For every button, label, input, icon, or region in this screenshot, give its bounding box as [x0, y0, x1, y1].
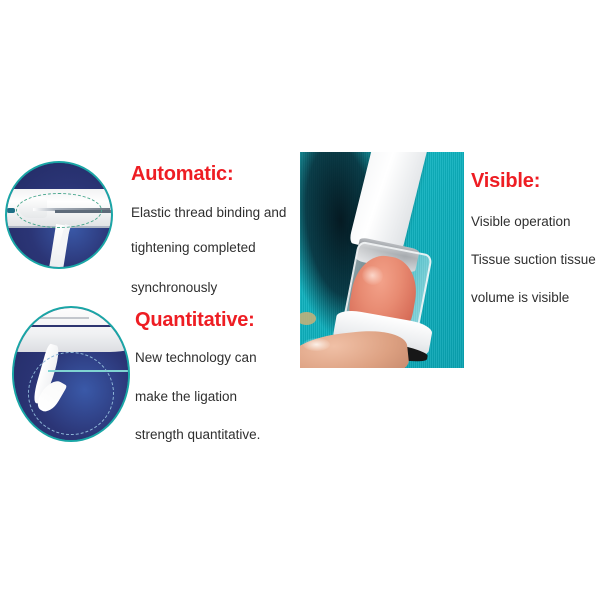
feature-text-automatic-line-2: tightening completed — [131, 240, 256, 255]
feature-text-visible-line-1: Visible operation — [471, 214, 571, 229]
feature-heading-visible: Visible: — [471, 170, 540, 193]
ligation-strength-illustration — [12, 306, 130, 442]
feature-text-automatic-line-3: synchronously — [131, 280, 217, 295]
clinical-tissue-suction-photo — [300, 152, 464, 368]
device-upper-body-line-secondary — [21, 317, 89, 319]
product-feature-infographic: Automatic: Elastic thread binding and ti… — [0, 0, 600, 600]
feature-text-automatic-line-1: Elastic thread binding and — [131, 205, 286, 220]
dashed-circle-highlight — [28, 352, 114, 436]
dashed-ellipse-highlight — [16, 193, 101, 228]
feature-text-quantitative-line-3: strength quantitative. — [135, 427, 260, 442]
device-tip — [7, 208, 15, 213]
device-upper-body — [12, 308, 130, 352]
feature-text-quantitative-line-2: make the ligation — [135, 389, 237, 404]
feature-text-quantitative-line-1: New technology can — [135, 350, 257, 365]
finger-highlight — [303, 338, 329, 351]
feature-text-visible-line-2: Tissue suction tissue — [471, 252, 596, 267]
elastic-thread-binding-illustration — [5, 161, 113, 269]
device-upper-body-line — [25, 325, 130, 327]
feature-text-visible-line-3: volume is visible — [471, 290, 569, 305]
feature-heading-quantitative: Quantitative: — [135, 309, 255, 332]
feature-heading-automatic: Automatic: — [131, 163, 233, 186]
